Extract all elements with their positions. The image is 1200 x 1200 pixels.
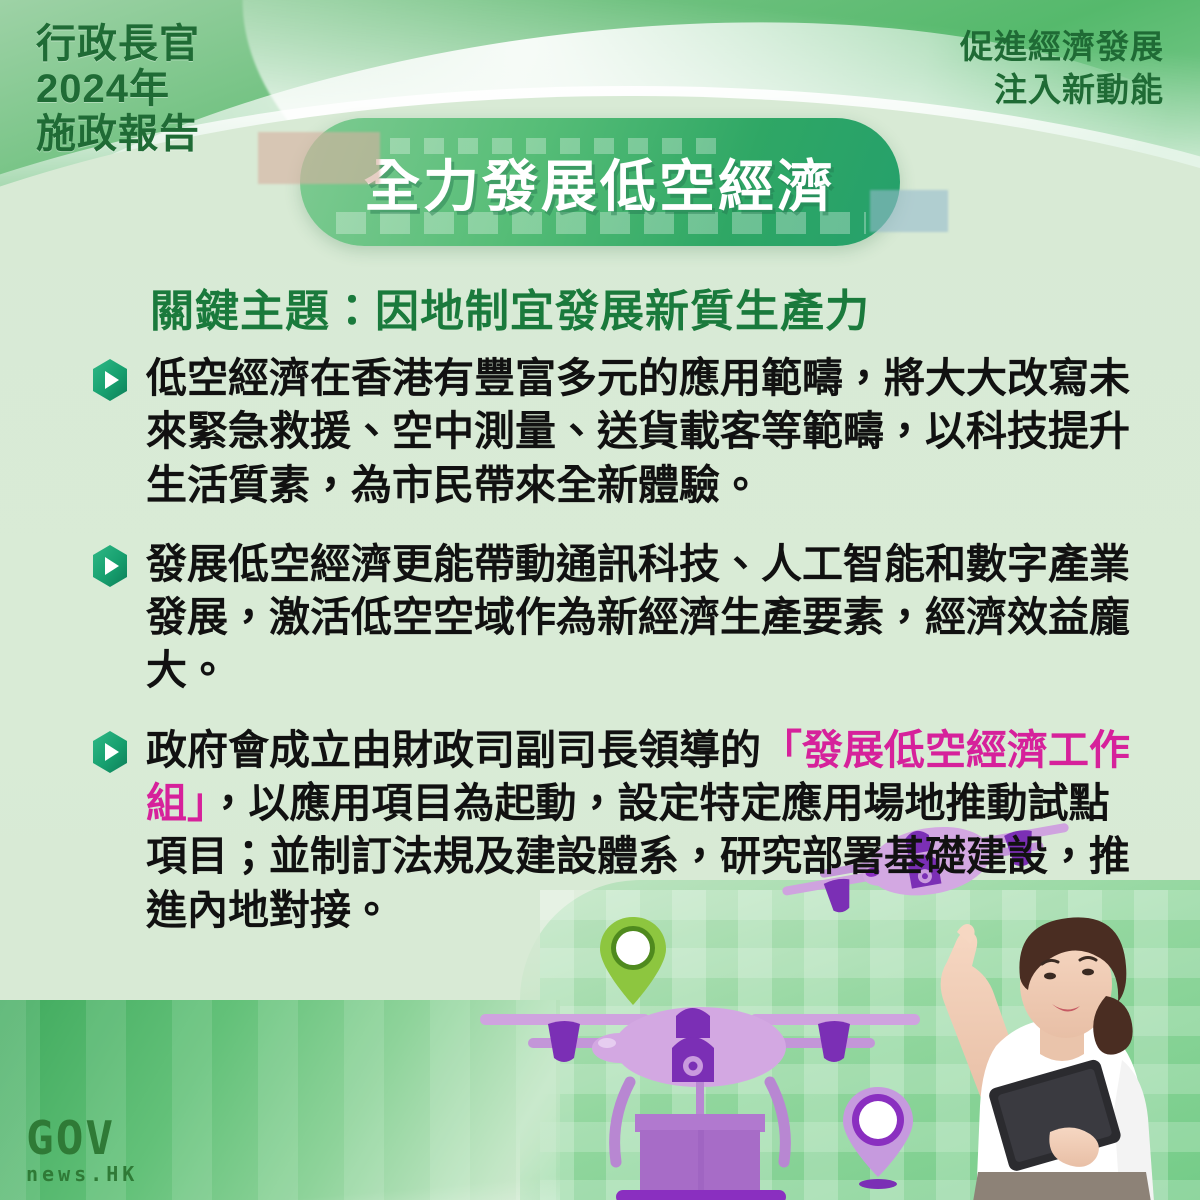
tagline-line-2: 注入新動能 bbox=[960, 69, 1164, 112]
govhk-logo[interactable]: GOV news.HK bbox=[26, 1115, 138, 1184]
play-hexagon-icon bbox=[90, 544, 130, 588]
bullet-segment: 政府會成立由財政司副司長領導的 bbox=[146, 727, 761, 773]
report-label-line-3: 施政報告 bbox=[36, 112, 200, 157]
tagline: 促進經濟發展 注入新動能 bbox=[960, 26, 1164, 112]
page-title: 全力發展低空經濟 bbox=[364, 142, 836, 223]
play-hexagon-icon bbox=[90, 730, 130, 774]
accent-block-pink bbox=[258, 132, 380, 184]
report-label: 行政長官 2024年 施政報告 bbox=[36, 22, 200, 156]
report-label-line-2: 2024年 bbox=[36, 67, 200, 112]
bullet-segment: 低空經濟在香港有豐富多元的應用範疇，將大大改寫未來緊急救援、空中測量、送貨載客等… bbox=[146, 355, 1130, 508]
tagline-line-1: 促進經濟發展 bbox=[960, 26, 1164, 69]
bullet-text: 發展低空經濟更能帶動通訊科技、人工智能和數字產業發展，激活低空空域作為新經濟生產… bbox=[146, 538, 1130, 698]
bullet-item: 低空經濟在香港有豐富多元的應用範疇，將大大改寫未來緊急救援、空中測量、送貨載客等… bbox=[90, 352, 1130, 512]
logo-primary-text: GOV bbox=[26, 1115, 138, 1161]
woman-with-tablet-photo bbox=[900, 900, 1200, 1200]
bullet-list: 低空經濟在香港有豐富多元的應用範疇，將大大改寫未來緊急救援、空中測量、送貨載客等… bbox=[90, 352, 1130, 963]
infographic-poster: 行政長官 2024年 施政報告 促進經濟發展 注入新動能 全力發展低空經濟 關鍵… bbox=[0, 0, 1200, 1200]
play-hexagon-icon bbox=[90, 358, 130, 402]
bullet-segment: 發展低空經濟更能帶動通訊科技、人工智能和數字產業發展，激活低空空域作為新經濟生產… bbox=[146, 541, 1130, 694]
report-label-line-1: 行政長官 bbox=[36, 22, 200, 67]
title-pill: 全力發展低空經濟 bbox=[300, 118, 900, 246]
key-theme-heading: 關鍵主題：因地制宜發展新質生產力 bbox=[150, 275, 870, 339]
title-banner: 全力發展低空經濟 bbox=[300, 118, 900, 246]
accent-block-blue bbox=[870, 190, 948, 232]
bullet-item: 發展低空經濟更能帶動通訊科技、人工智能和數字產業發展，激活低空空域作為新經濟生產… bbox=[90, 538, 1130, 698]
logo-secondary-text: news.HK bbox=[26, 1164, 138, 1184]
bullet-text: 低空經濟在香港有豐富多元的應用範疇，將大大改寫未來緊急救援、空中測量、送貨載客等… bbox=[146, 352, 1130, 512]
